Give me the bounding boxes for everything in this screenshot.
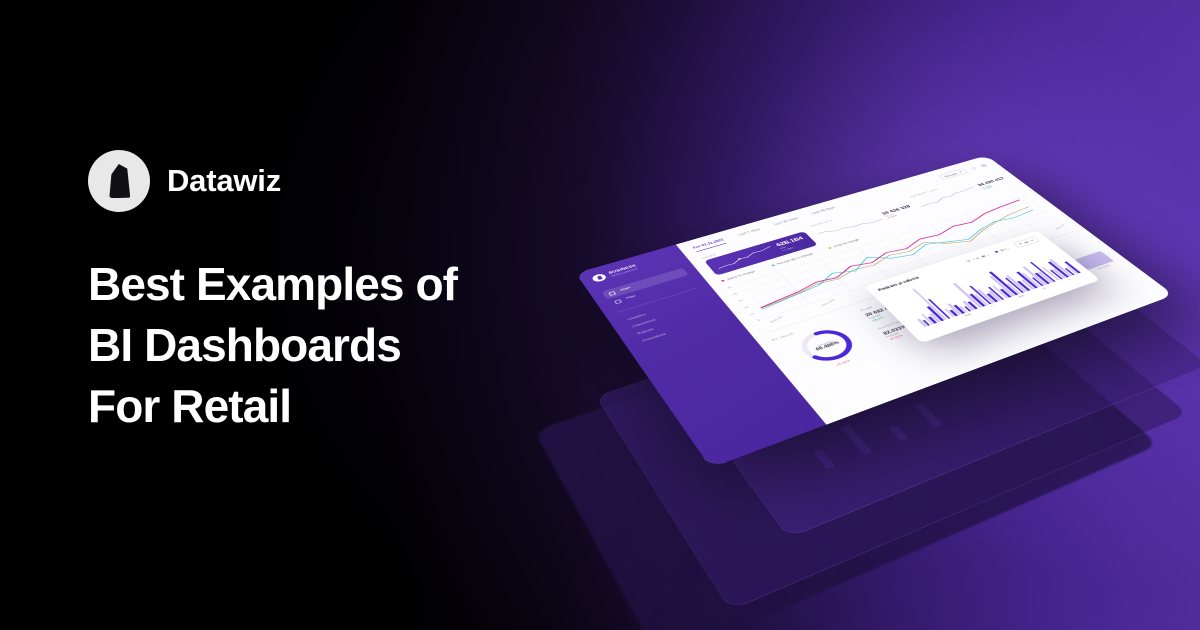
tab-last-90-days[interactable]: Last 90 days (811, 206, 839, 217)
svg-text:30: 30 (727, 286, 733, 290)
target-icon (614, 299, 622, 304)
datawiz-droplet-logo-icon (88, 150, 150, 212)
grid-icon (608, 291, 616, 296)
shops-select-label: Shops (1018, 240, 1030, 245)
avatar[interactable] (979, 163, 987, 167)
legend-dot (771, 264, 775, 267)
brand-name: Datawiz (167, 163, 281, 199)
svg-text:15: 15 (743, 306, 749, 310)
legend-dot (828, 247, 832, 249)
dashboard-mockup-stage: BUSINESS INTELLIGENCE Main Plan Analytic… (545, 95, 1185, 565)
svg-text:20: 20 (738, 299, 744, 303)
sidebar-item-label: Main (620, 286, 632, 291)
legend-item-promotion[interactable]: Promotion (966, 253, 989, 262)
legend-label: Sales (999, 247, 1010, 252)
brand-lockup: Datawiz (88, 150, 558, 212)
chevron-down-icon (959, 171, 963, 173)
legend-label: Promotion (971, 253, 989, 260)
svg-text:10: 10 (749, 312, 755, 316)
legend-item-sales[interactable]: Sales (994, 247, 1010, 254)
chevron-down-icon (1030, 239, 1034, 241)
hero-banner: Datawiz Best Examples of BI Dashboards F… (0, 0, 1200, 630)
svg-text:5: 5 (757, 319, 761, 322)
manager-select[interactable]: Manager (938, 168, 969, 180)
bi-circle-logo-icon (591, 273, 608, 283)
legend-dot (967, 260, 972, 262)
legend-dot (994, 251, 999, 253)
sidebar-item-label: Plan (626, 295, 637, 300)
svg-text:25: 25 (732, 292, 738, 296)
tab-last-7-days[interactable]: Last 7 days (737, 228, 763, 239)
legend-dot (721, 279, 726, 282)
tab-last-30-days[interactable]: Last 30 days (773, 217, 801, 228)
plan-completion-donut[interactable]: By value Completed 66.486% -21.94% (771, 313, 883, 378)
page-title: Best Examples of BI Dashboards For Retai… (88, 254, 558, 438)
bell-icon[interactable] (969, 166, 977, 170)
manager-select-label: Manager (943, 172, 958, 178)
hero-copy: Datawiz Best Examples of BI Dashboards F… (88, 150, 558, 438)
